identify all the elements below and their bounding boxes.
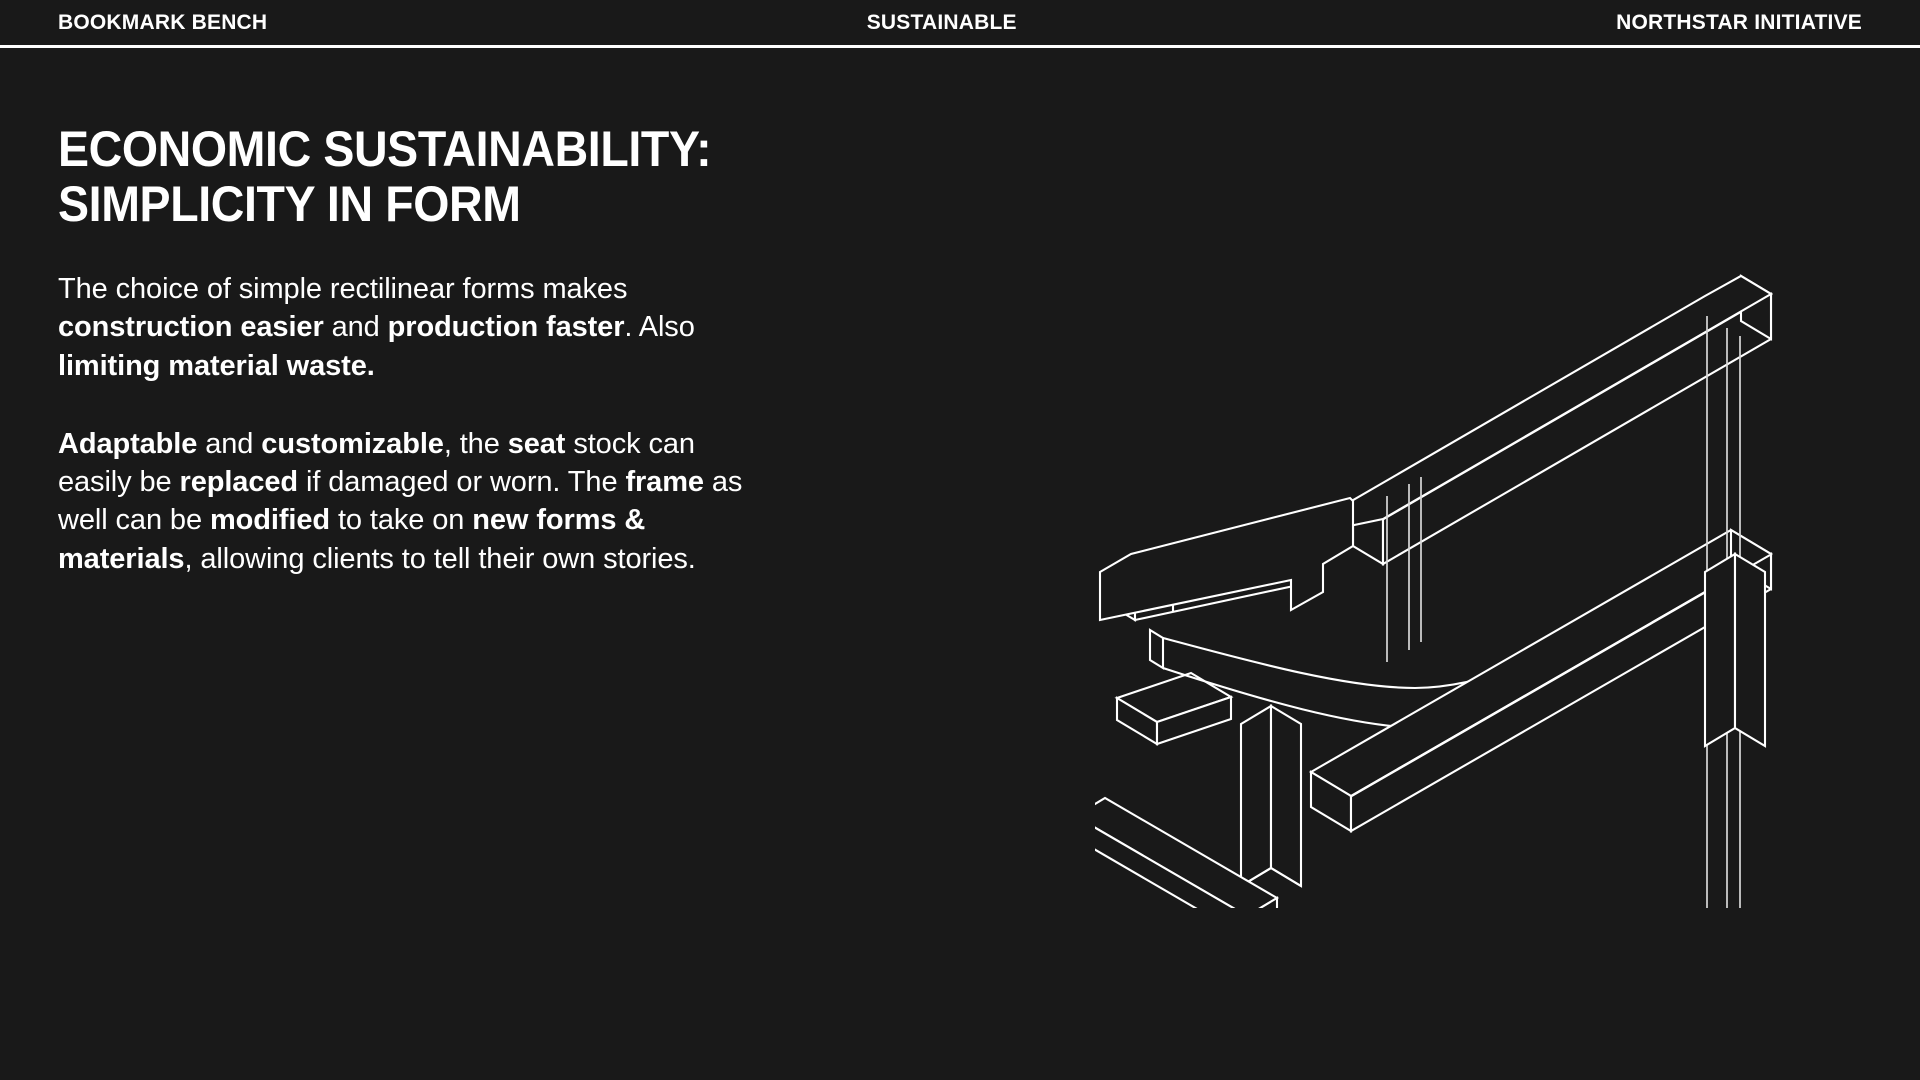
slide-content: ECONOMIC SUSTAINABILITY: SIMPLICITY IN F… bbox=[0, 48, 1920, 1080]
backrest-rail bbox=[1287, 276, 1771, 564]
header-section-label: SUSTAINABLE bbox=[267, 12, 1616, 33]
text-column: ECONOMIC SUSTAINABILITY: SIMPLICITY IN F… bbox=[58, 122, 798, 578]
header-project-name: BOOKMARK BENCH bbox=[58, 12, 267, 33]
page-title: ECONOMIC SUSTAINABILITY: SIMPLICITY IN F… bbox=[58, 122, 746, 232]
bench-right-leg bbox=[1705, 554, 1765, 746]
bench-isometric-svg bbox=[1095, 168, 1915, 908]
slide-root: BOOKMARK BENCH SUSTAINABLE NORTHSTAR INI… bbox=[0, 0, 1920, 1080]
header-initiative-name: NORTHSTAR INITIATIVE bbox=[1616, 12, 1862, 33]
body-paragraph-2: Adaptable and customizable, the seat sto… bbox=[58, 425, 770, 578]
bench-left-leg bbox=[1241, 706, 1301, 886]
seat-front-rail bbox=[1311, 530, 1771, 831]
bench-illustration bbox=[1095, 168, 1915, 908]
body-paragraph-1: The choice of simple rectilinear forms m… bbox=[58, 270, 770, 385]
backrest-corner-block bbox=[1100, 498, 1353, 620]
slide-header: BOOKMARK BENCH SUSTAINABLE NORTHSTAR INI… bbox=[0, 0, 1920, 45]
